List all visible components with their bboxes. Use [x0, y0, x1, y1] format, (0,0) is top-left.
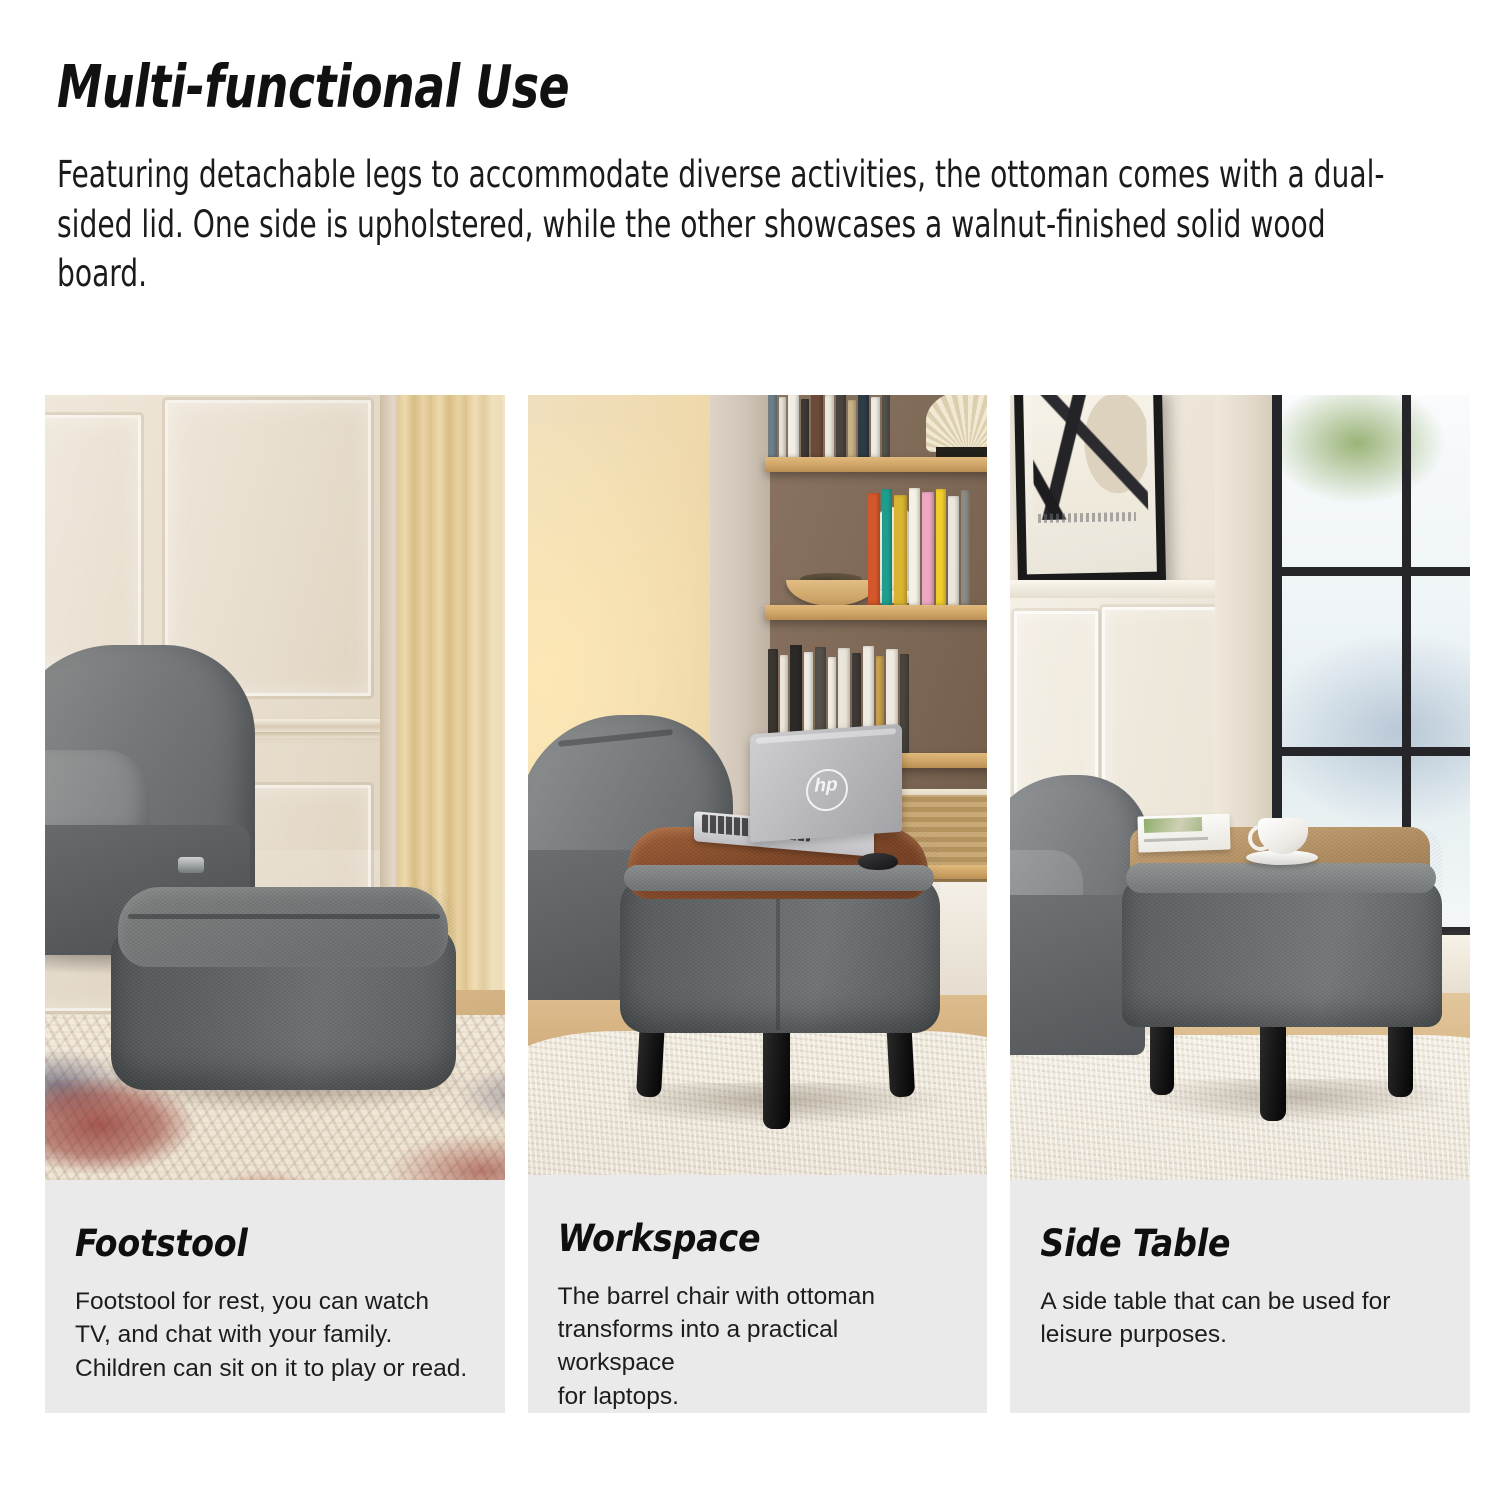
curtain-window-glow: [465, 395, 505, 1050]
caption-title: Workspace: [558, 1217, 958, 1260]
ottoman-leg: [763, 1025, 790, 1129]
bookshelf-shelf: [765, 457, 988, 472]
caption-title: Footstool: [75, 1222, 475, 1265]
decor-fan-vase: [926, 395, 988, 452]
magazine-photo: [1144, 817, 1202, 833]
photo-side-table-scene: [1010, 395, 1470, 1180]
window-mullion-horizontal: [1272, 747, 1470, 756]
page-subtitle: Featuring detachable legs to accommodate…: [57, 118, 1409, 299]
photo-workspace-scene: hp: [528, 395, 988, 1175]
caption-body: The barrel chair with ottoman transforms…: [558, 1280, 958, 1413]
page-title: Multi-functional Use: [57, 56, 1252, 118]
detachable-leg-bolt: [178, 857, 204, 873]
caption-workspace: Workspace The barrel chair with ottoman …: [528, 1175, 988, 1413]
feature-card-footstool: Footstool Footstool for rest, you can wa…: [45, 395, 505, 1413]
caption-footstool: Footstool Footstool for rest, you can wa…: [45, 1180, 505, 1413]
bookshelf-shelf: [765, 605, 988, 620]
boucle-fabric-texture: [111, 887, 456, 1090]
caption-side-table: Side Table A side table that can be used…: [1010, 1180, 1470, 1413]
feature-card-side-table: Side Table A side table that can be used…: [1010, 395, 1470, 1413]
book-row-middle: [868, 488, 970, 605]
hp-logo-label: hp: [811, 774, 841, 798]
book-row-top: [768, 395, 890, 457]
wall-panel-moulding: [45, 415, 141, 671]
abstract-artwork: [1032, 395, 1149, 520]
caption-body: Footstool for rest, you can watch TV, an…: [75, 1285, 475, 1385]
caption-body: A side table that can be used for leisur…: [1040, 1285, 1440, 1352]
caption-title: Side Table: [1040, 1222, 1440, 1265]
header-block: Multi-functional Use Featuring detachabl…: [57, 56, 1447, 299]
photo-footstool-scene: [45, 395, 505, 1180]
mouse: [858, 853, 898, 870]
feature-cards-row: Footstool Footstool for rest, you can wa…: [45, 395, 1470, 1413]
feature-card-workspace: hp Workspace The barrel chair with ottom…: [528, 395, 988, 1413]
window-mullion-horizontal: [1272, 567, 1470, 576]
ottoman-leg: [1260, 1021, 1286, 1121]
